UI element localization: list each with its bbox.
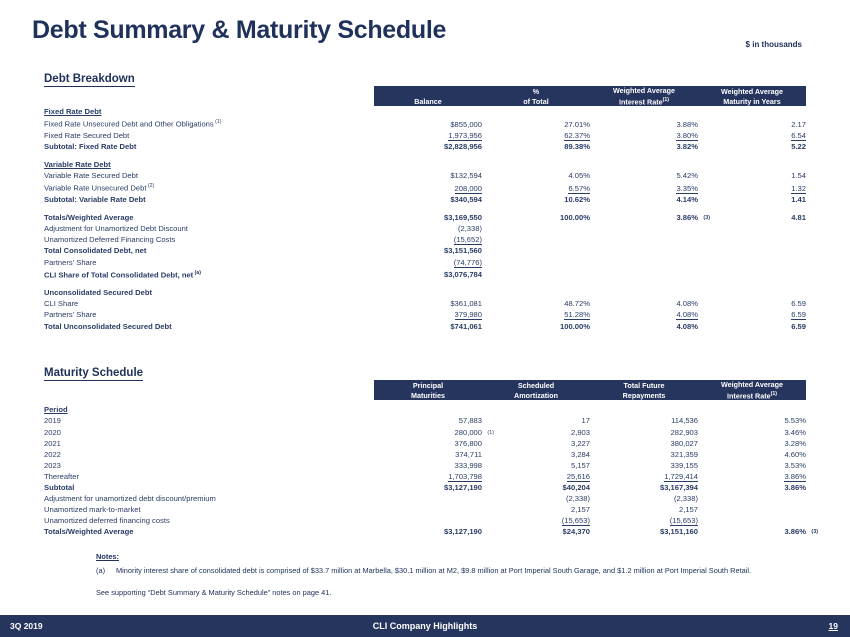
header-wa-interest-rate: Weighted Average Interest Rate(1) — [590, 86, 698, 106]
table-row: 2020280,000(1)2,903282,9033.46% — [44, 427, 806, 438]
table-row: Unamortized Deferred Financing Costs(15,… — [44, 234, 806, 245]
row-spacer — [44, 205, 806, 212]
header-mrate-line2: Interest Rate(1) — [698, 390, 806, 401]
header-balance: Balance — [374, 86, 482, 106]
row-label: Variable Rate Secured Debt — [44, 170, 374, 181]
table-row — [44, 152, 806, 159]
footnote-marker: (1) — [663, 97, 669, 103]
cell-total-future-repayments: (2,338) — [590, 493, 698, 504]
table-row: Total Unconsolidated Secured Debt$741,06… — [44, 321, 806, 332]
footnote-marker: (3) — [811, 527, 818, 538]
header-amort-line2: Amortization — [482, 391, 590, 401]
cell-scheduled-amortization: 17 — [482, 415, 590, 426]
cell-maturity-years — [698, 287, 806, 298]
table-row: Partners' Share379,98051.28%4.08%6.59 — [44, 309, 806, 320]
cell-interest-rate: 3.46% — [698, 427, 806, 438]
table-row: Unamortized mark-to-market 2,1572,157 — [44, 504, 806, 515]
table-row: 2023333,9985,157339,1553.53% — [44, 460, 806, 471]
table-row: Variable Rate Unsecured Debt (2)208,0006… — [44, 181, 806, 194]
cell-interest-rate: 3.35% — [590, 181, 698, 194]
header-rate-line1: Weighted Average — [590, 86, 698, 96]
cell-scheduled-amortization: 5,157 — [482, 460, 590, 471]
table-row: Subtotal: Fixed Rate Debt$2,828,95689.38… — [44, 141, 806, 152]
slide-page: Debt Summary & Maturity Schedule $ in th… — [0, 0, 850, 637]
cell-pct-of-total — [482, 257, 590, 268]
cell-maturity-years: 6.59 — [698, 298, 806, 309]
cell-principal-maturities: 1,703,798 — [374, 471, 482, 482]
cell-principal-maturities: 333,998 — [374, 460, 482, 471]
cell-pct-of-total: 10.62% — [482, 194, 590, 205]
cell-interest-rate — [590, 268, 698, 281]
cell-principal-maturities: $3,127,190 — [374, 526, 482, 537]
cell-interest-rate: 3.86% — [698, 471, 806, 482]
debt-breakdown-header-row: Balance % of Total Weighted Average Inte… — [44, 86, 806, 106]
cell-maturity-years: 6.59 — [698, 309, 806, 320]
cell-maturity-years — [698, 257, 806, 268]
cell-interest-rate: 3.86% — [698, 482, 806, 493]
cell-interest-rate — [698, 515, 806, 526]
cell-scheduled-amortization: 2,903 — [482, 427, 590, 438]
cell-interest-rate — [698, 493, 806, 504]
table-row — [44, 280, 806, 287]
footnote-marker: (1) — [214, 119, 222, 125]
cell-balance: $3,076,784 — [374, 268, 482, 281]
row-period: 2020 — [44, 427, 374, 438]
row-label: Total Consolidated Debt, net — [44, 245, 374, 256]
header-blank — [44, 86, 374, 106]
cell-interest-rate — [590, 245, 698, 256]
maturity-schedule-table: Principal Maturities Scheduled Amortizat… — [44, 380, 806, 538]
row-period: 2022 — [44, 449, 374, 460]
row-label: Unconsolidated Secured Debt — [44, 287, 374, 298]
cell-interest-rate: 3.88% — [590, 117, 698, 130]
header-wa-maturity-years: Weighted Average Maturity in Years — [698, 86, 806, 106]
cell-maturity-years — [698, 106, 806, 117]
row-label: Unamortized Deferred Financing Costs — [44, 234, 374, 245]
cell-interest-rate — [590, 287, 698, 298]
row-spacer — [44, 280, 806, 287]
cell-interest-rate: 3.82% — [590, 141, 698, 152]
cell-interest-rate: 4.08% — [590, 298, 698, 309]
row-period: Unamortized deferred financing costs — [44, 515, 374, 526]
units-label: $ in thousands — [746, 40, 802, 49]
footnote-marker: (2) — [146, 183, 154, 189]
cell-balance — [374, 159, 482, 170]
table-row: Subtotal$3,127,190$40,204$3,167,3943.86% — [44, 482, 806, 493]
cell-pct-of-total — [482, 106, 590, 117]
cell-interest-rate — [590, 106, 698, 117]
header-rate-line2: Interest Rate(1) — [590, 96, 698, 107]
row-label: Variable Rate Unsecured Debt (2) — [44, 181, 374, 194]
row-label: Totals/Weighted Average — [44, 212, 374, 223]
header-blank-maturity — [44, 380, 374, 400]
cell-maturity-years: 1.54 — [698, 170, 806, 181]
note-marker: (a) — [96, 566, 116, 577]
table-row: Partners' Share(74,776) — [44, 257, 806, 268]
page-title: Debt Summary & Maturity Schedule — [32, 16, 446, 45]
cell-pct-of-total — [482, 223, 590, 234]
cell-total-future-repayments: (15,653) — [590, 515, 698, 526]
cell-interest-rate: 5.42% — [590, 170, 698, 181]
maturity-schedule-section-title: Maturity Schedule — [44, 367, 143, 381]
cell-maturity-years: 5.22 — [698, 141, 806, 152]
row-period: 2023 — [44, 460, 374, 471]
footnote-marker: (1) — [487, 428, 494, 439]
table-row: Fixed Rate Secured Debt1,973,95662.37%3.… — [44, 130, 806, 141]
row-label: Fixed Rate Secured Debt — [44, 130, 374, 141]
notes-block: Notes: (a)Minority interest share of con… — [96, 552, 796, 599]
debt-breakdown-table: Balance % of Total Weighted Average Inte… — [44, 86, 806, 332]
footnote-marker: (1) — [771, 391, 777, 397]
cell-principal-maturities: $3,127,190 — [374, 482, 482, 493]
cell-maturity-years — [698, 268, 806, 281]
debt-breakdown-section-title: Debt Breakdown — [44, 73, 135, 87]
cell-interest-rate — [590, 159, 698, 170]
row-label: Fixed Rate Debt — [44, 106, 374, 117]
cell-total-future-repayments: 380,027 — [590, 438, 698, 449]
cell-balance: (74,776) — [374, 257, 482, 268]
table-row: Fixed Rate Unsecured Debt and Other Obli… — [44, 117, 806, 130]
header-total-future-repayments: Total Future Repayments — [590, 380, 698, 400]
header-maturity-line2: Maturity in Years — [698, 97, 806, 107]
table-row: 2022374,7113,284321,3594.60% — [44, 449, 806, 460]
cell-balance: $361,081 — [374, 298, 482, 309]
cell-interest-rate: 3.80% — [590, 130, 698, 141]
footnote-marker: (3) — [703, 213, 710, 224]
row-period: 2019 — [44, 415, 374, 426]
cell-balance: $132,594 — [374, 170, 482, 181]
period-header-row: Period — [44, 400, 806, 415]
cell-interest-rate — [590, 257, 698, 268]
cell-total-future-repayments: 321,359 — [590, 449, 698, 460]
cell-maturity-years: 6.59 — [698, 321, 806, 332]
row-period: Unamortized mark-to-market — [44, 504, 374, 515]
header-repay-line1: Total Future — [590, 381, 698, 391]
row-label: CLI Share — [44, 298, 374, 309]
cell-balance: (15,652) — [374, 234, 482, 245]
table-row: Total Consolidated Debt, net$3,151,560 — [44, 245, 806, 256]
row-period: Thereafter — [44, 471, 374, 482]
cell-interest-rate: 3.86%(3) — [698, 526, 806, 537]
row-period: Adjustment for unamortized debt discount… — [44, 493, 374, 504]
cell-total-future-repayments: 2,157 — [590, 504, 698, 515]
header-maturity-line1: Weighted Average — [698, 87, 806, 97]
cell-interest-rate: 4.08% — [590, 309, 698, 320]
cell-scheduled-amortization: (2,338) — [482, 493, 590, 504]
cell-scheduled-amortization: $40,204 — [482, 482, 590, 493]
cell-pct-of-total: 100.00% — [482, 212, 590, 223]
cell-pct-of-total: 51.28% — [482, 309, 590, 320]
cell-pct-of-total: 4.05% — [482, 170, 590, 181]
row-label: CLI Share of Total Consolidated Debt, ne… — [44, 268, 374, 281]
header-principal-line1: Principal — [374, 381, 482, 391]
cell-maturity-years: 6.54 — [698, 130, 806, 141]
row-spacer — [44, 152, 806, 159]
header-pct-of-total: % of Total — [482, 86, 590, 106]
cell-total-future-repayments: 282,903 — [590, 427, 698, 438]
cell-scheduled-amortization: 3,227 — [482, 438, 590, 449]
cell-interest-rate: 4.60% — [698, 449, 806, 460]
cell-balance: $855,000 — [374, 117, 482, 130]
cell-scheduled-amortization: 3,284 — [482, 449, 590, 460]
row-label: Fixed Rate Unsecured Debt and Other Obli… — [44, 117, 374, 130]
cell-total-future-repayments: $3,151,160 — [590, 526, 698, 537]
table-row: CLI Share of Total Consolidated Debt, ne… — [44, 268, 806, 281]
row-label: Subtotal: Fixed Rate Debt — [44, 141, 374, 152]
cell-maturity-years: 4.81 — [698, 212, 806, 223]
cell-balance: (2,338) — [374, 223, 482, 234]
table-row: Unamortized deferred financing costs (15… — [44, 515, 806, 526]
cell-pct-of-total — [482, 268, 590, 281]
cell-principal-maturities: 374,711 — [374, 449, 482, 460]
cell-balance: $3,169,550 — [374, 212, 482, 223]
table-row: Thereafter1,703,79825,6161,729,4143.86% — [44, 471, 806, 482]
period-column-header: Period — [44, 400, 374, 415]
cell-pct-of-total: 62.37% — [482, 130, 590, 141]
table-row: Fixed Rate Debt — [44, 106, 806, 117]
header-amort-line1: Scheduled — [482, 381, 590, 391]
cell-pct-of-total: 27.01% — [482, 117, 590, 130]
cell-interest-rate — [590, 234, 698, 245]
table-row: Variable Rate Secured Debt$132,5944.05%5… — [44, 170, 806, 181]
table-row: Totals/Weighted Average$3,169,550100.00%… — [44, 212, 806, 223]
table-row: Totals/Weighted Average$3,127,190$24,370… — [44, 526, 806, 537]
slide-footer: 3Q 2019 CLI Company Highlights 19 — [0, 615, 850, 637]
header-mrate-line1: Weighted Average — [698, 380, 806, 390]
cell-maturity-years: 1.32 — [698, 181, 806, 194]
cell-interest-rate: 5.53% — [698, 415, 806, 426]
cell-interest-rate: 3.86%(3) — [590, 212, 698, 223]
row-label: Total Unconsolidated Secured Debt — [44, 321, 374, 332]
cell-principal-maturities: 57,883 — [374, 415, 482, 426]
row-label: Adjustment for Unamortized Debt Discount — [44, 223, 374, 234]
table-row: 201957,88317114,5365.53% — [44, 415, 806, 426]
header-scheduled-amortization: Scheduled Amortization — [482, 380, 590, 400]
cell-pct-of-total — [482, 245, 590, 256]
cell-principal-maturities: 376,800 — [374, 438, 482, 449]
cell-total-future-repayments: 1,729,414 — [590, 471, 698, 482]
cell-total-future-repayments: $3,167,394 — [590, 482, 698, 493]
cell-maturity-years — [698, 234, 806, 245]
cell-maturity-years — [698, 159, 806, 170]
cell-pct-of-total: 100.00% — [482, 321, 590, 332]
table-row: Adjustment for unamortized debt discount… — [44, 493, 806, 504]
cell-principal-maturities — [374, 493, 482, 504]
header-principal-maturities: Principal Maturities — [374, 380, 482, 400]
row-label: Partners' Share — [44, 309, 374, 320]
cell-balance — [374, 106, 482, 117]
header-principal-line2: Maturities — [374, 391, 482, 401]
header-pct-line2: of Total — [482, 97, 590, 107]
cell-pct-of-total — [482, 234, 590, 245]
cell-maturity-years — [698, 223, 806, 234]
row-label: Partners' Share — [44, 257, 374, 268]
cell-interest-rate: 3.53% — [698, 460, 806, 471]
table-row: Adjustment for Unamortized Debt Discount… — [44, 223, 806, 234]
cell-balance — [374, 287, 482, 298]
cell-balance: $2,828,956 — [374, 141, 482, 152]
cell-scheduled-amortization: $24,370 — [482, 526, 590, 537]
row-period: 2021 — [44, 438, 374, 449]
table-row: 2021376,8003,227380,0273.28% — [44, 438, 806, 449]
cell-interest-rate — [698, 504, 806, 515]
cell-balance: 208,000 — [374, 181, 482, 194]
footer-title: CLI Company Highlights — [0, 621, 850, 631]
row-period: Subtotal — [44, 482, 374, 493]
cell-pct-of-total: 89.38% — [482, 141, 590, 152]
maturity-header-row: Principal Maturities Scheduled Amortizat… — [44, 380, 806, 400]
cell-scheduled-amortization: 25,616 — [482, 471, 590, 482]
cell-pct-of-total — [482, 159, 590, 170]
notes-see-also: See supporting “Debt Summary & Maturity … — [96, 588, 796, 599]
notes-heading: Notes: — [96, 552, 796, 563]
table-row: Unconsolidated Secured Debt — [44, 287, 806, 298]
cell-interest-rate — [590, 223, 698, 234]
cell-interest-rate: 4.08% — [590, 321, 698, 332]
table-row: CLI Share$361,08148.72%4.08%6.59 — [44, 298, 806, 309]
note-text: Minority interest share of consolidated … — [116, 566, 796, 577]
cell-balance: $741,061 — [374, 321, 482, 332]
cell-interest-rate: 3.28% — [698, 438, 806, 449]
row-label: Subtotal: Variable Rate Debt — [44, 194, 374, 205]
cell-balance: 1,973,956 — [374, 130, 482, 141]
table-row: Subtotal: Variable Rate Debt$340,59410.6… — [44, 194, 806, 205]
footnote-marker: (a) — [193, 270, 201, 276]
cell-total-future-repayments: 114,536 — [590, 415, 698, 426]
footer-page-number: 19 — [829, 621, 838, 631]
cell-maturity-years: 1.41 — [698, 194, 806, 205]
cell-pct-of-total — [482, 287, 590, 298]
cell-maturity-years: 2.17 — [698, 117, 806, 130]
header-pct-line1: % — [482, 87, 590, 97]
row-label: Variable Rate Debt — [44, 159, 374, 170]
cell-total-future-repayments: 339,155 — [590, 460, 698, 471]
cell-principal-maturities — [374, 515, 482, 526]
cell-scheduled-amortization: (15,653) — [482, 515, 590, 526]
cell-balance: 379,980 — [374, 309, 482, 320]
table-row — [44, 205, 806, 212]
cell-scheduled-amortization: 2,157 — [482, 504, 590, 515]
cell-maturity-years — [698, 245, 806, 256]
header-repay-line2: Repayments — [590, 391, 698, 401]
cell-principal-maturities — [374, 504, 482, 515]
cell-balance: $3,151,560 — [374, 245, 482, 256]
cell-balance: $340,594 — [374, 194, 482, 205]
header-wa-interest-rate-maturity: Weighted Average Interest Rate(1) — [698, 380, 806, 400]
row-period: Totals/Weighted Average — [44, 526, 374, 537]
header-balance-line2: Balance — [374, 97, 482, 107]
table-row: Variable Rate Debt — [44, 159, 806, 170]
cell-interest-rate: 4.14% — [590, 194, 698, 205]
note-item: (a)Minority interest share of consolidat… — [96, 566, 796, 577]
cell-pct-of-total: 6.57% — [482, 181, 590, 194]
cell-principal-maturities: 280,000(1) — [374, 427, 482, 438]
cell-pct-of-total: 48.72% — [482, 298, 590, 309]
